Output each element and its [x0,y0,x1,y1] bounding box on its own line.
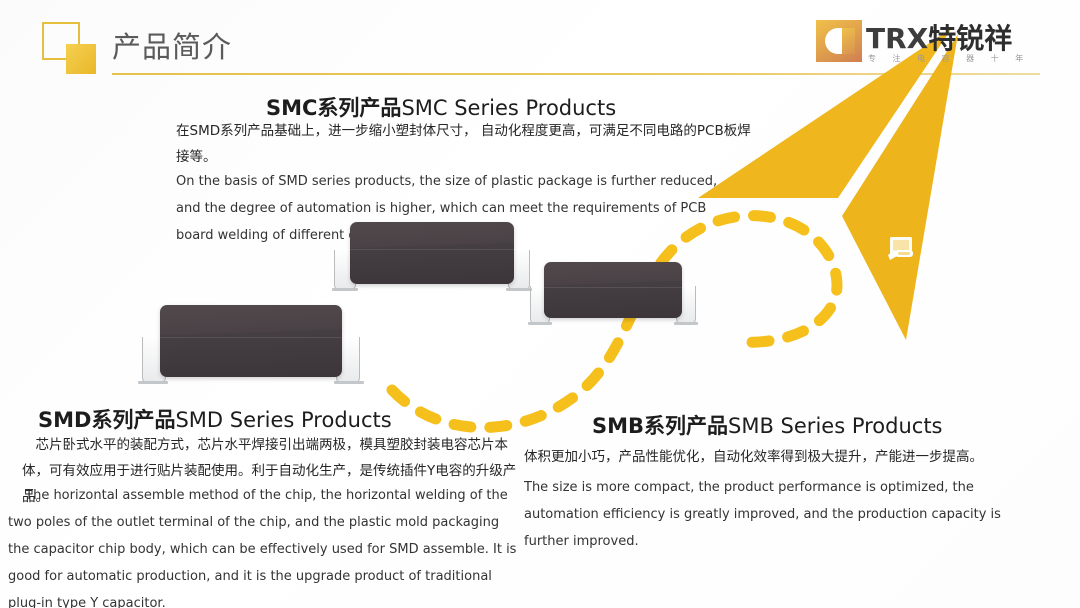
square-filled-icon [66,44,96,74]
logo-wordmark: TRX特锐祥 [866,17,1012,57]
slide-canvas: 产品简介 TRX特锐祥 专 注 电 容 器 十 年 [0,0,1080,608]
smd-title-cn: SMD系列产品 [38,408,175,432]
smb-capacitor-image [530,262,696,332]
smc-title-cn: SMC系列产品 [266,96,401,120]
smc-capacitor-image [334,222,530,298]
component-foot-right [334,381,364,384]
smc-body-cn: 在SMD系列产品基础上，进一步缩小塑封体尺寸， 自动化程度更高，可满足不同电路的… [176,118,752,170]
header-decoration [42,22,104,74]
smb-title-cn: SMB系列产品 [592,414,728,438]
component-foot-left [528,322,552,325]
logo-tagline: 专 注 电 容 器 十 年 [868,53,1030,64]
component-body [350,222,514,284]
header-divider [112,73,1040,75]
logo-text-en: TRX [866,22,928,55]
component-body [544,262,682,318]
smb-body-cn: 体积更加小巧，产品性能优化，自动化效率得到极大提升，产能进一步提高。 [524,444,1024,470]
smb-title-en: SMB Series Products [728,414,942,438]
smd-capacitor-image [142,305,360,393]
component-foot-right [506,288,532,291]
smc-title-en: SMC Series Products [401,96,616,120]
trx-c-mark-icon [816,20,862,62]
component-foot-left [332,288,358,291]
smb-section-title: SMB系列产品SMB Series Products [592,410,943,440]
component-foot-left [138,381,168,384]
logo-text-cn: 特锐祥 [928,22,1012,55]
smd-section-title: SMD系列产品SMD Series Products [38,404,392,434]
component-body [160,305,342,377]
product-card-icon [886,236,916,262]
brand-logo: TRX特锐祥 专 注 电 容 器 十 年 [816,17,1038,71]
smb-body-en: The size is more compact, the product pe… [524,474,1024,555]
component-foot-right [674,322,698,325]
smd-body-en: The horizontal assemble method of the ch… [8,482,520,608]
page-title: 产品简介 [112,24,232,66]
smd-title-en: SMD Series Products [175,408,391,432]
